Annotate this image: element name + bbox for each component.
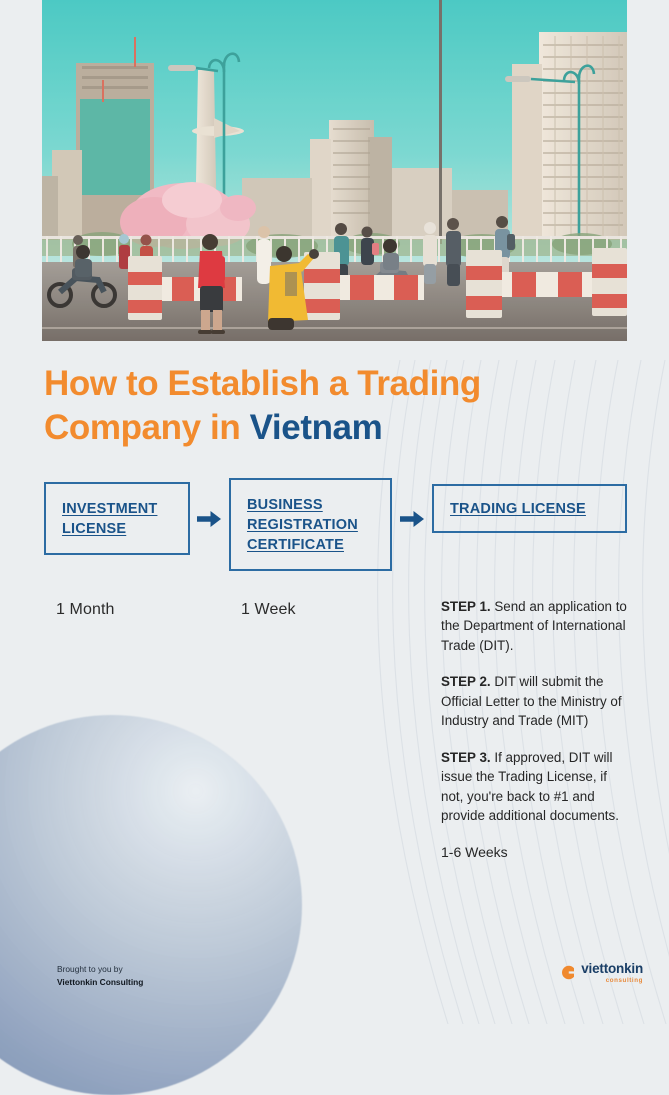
flow-box-trading-license[interactable]: TRADING LICENSE — [432, 484, 627, 533]
step-item-1: STEP 1. Send an application to the Depar… — [441, 597, 631, 655]
step-item-3: STEP 3. If approved, DIT will issue the … — [441, 748, 631, 826]
flow-box-investment-license[interactable]: INVESTMENT LICENSE — [44, 482, 190, 555]
duration-business-registration-certificate: 1 Week — [241, 601, 296, 619]
step-item-2: STEP 2. DIT will submit the Official Let… — [441, 672, 631, 730]
step-3-label: STEP 3. — [441, 750, 491, 765]
arrow-right-icon — [399, 508, 425, 530]
flow-box-trading-license-label: TRADING LICENSE — [434, 499, 586, 519]
step-1-label: STEP 1. — [441, 599, 491, 614]
page-title: How to Establish a Trading Company in Vi… — [44, 362, 604, 451]
duration-trading-license: 1-6 Weeks — [441, 842, 631, 862]
flow-box-business-registration-certificate[interactable]: BUSINESS REGISTRATION CERTIFICATE — [229, 478, 392, 571]
brand-tagline: consulting — [606, 978, 643, 984]
footer-credit-line-1: Brought to you by — [57, 963, 143, 976]
brand-wordmark: viettonkin consulting — [581, 962, 643, 984]
brand-logo: viettonkin consulting — [559, 962, 643, 984]
step-2-label: STEP 2. — [441, 674, 491, 689]
title-line-1: How to Establish a Trading — [44, 364, 481, 403]
arrow-right-icon — [196, 508, 222, 530]
footer-credit: Brought to you by Viettonkin Consulting — [57, 963, 143, 988]
hero-photo — [42, 0, 627, 341]
footer-credit-line-2: Viettonkin Consulting — [57, 976, 143, 989]
duration-investment-license: 1 Month — [56, 601, 115, 619]
flow-box-business-registration-certificate-label: BUSINESS REGISTRATION CERTIFICATE — [231, 495, 390, 555]
brand-name: viettonkin — [581, 962, 643, 976]
decorative-gradient-circle — [0, 715, 302, 1095]
flow-box-investment-license-label: INVESTMENT LICENSE — [46, 499, 188, 539]
steps-panel: STEP 1. Send an application to the Depar… — [441, 597, 631, 863]
c-logo-icon — [559, 964, 576, 981]
title-highlight-vietnam: Vietnam — [250, 408, 383, 447]
title-line-2-prefix: Company in — [44, 408, 250, 447]
